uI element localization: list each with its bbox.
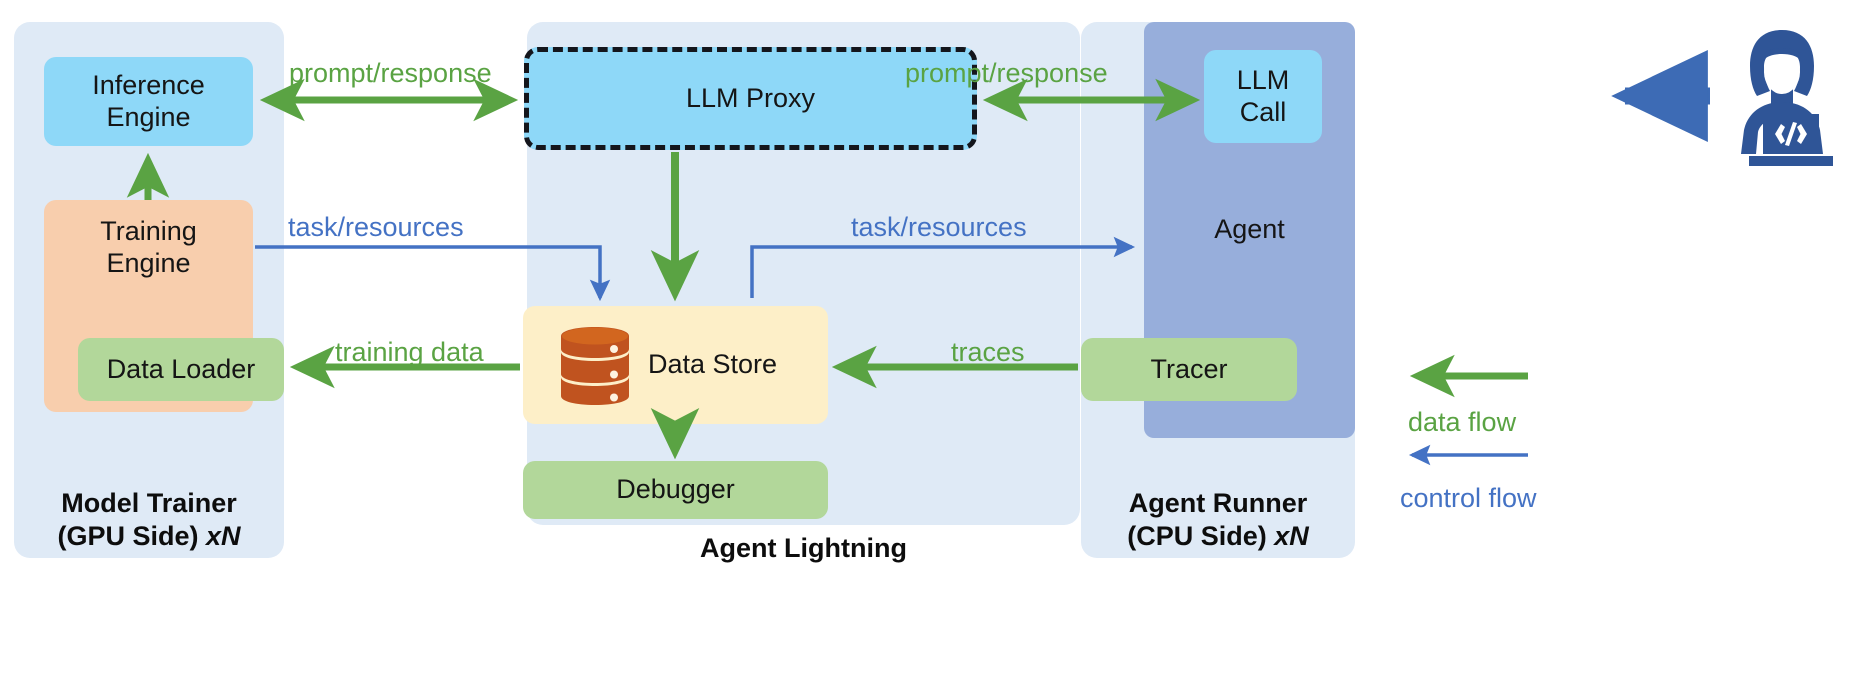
legend-data-flow-text: data flow [1408, 407, 1516, 437]
edge-label-traces: traces [951, 337, 1025, 368]
prompt-response-left-text: prompt/response [289, 58, 492, 88]
edge-label-task-resources-left: task/resources [288, 212, 464, 243]
node-debugger[interactable]: Debugger [523, 461, 828, 519]
diagram-canvas: Inference Engine Training Engine Data Lo… [0, 0, 1852, 684]
caption-model-trainer-suffix: xN [206, 521, 241, 551]
training-engine-label-line1: Training [100, 216, 197, 248]
inference-engine-label-line2: Engine [106, 102, 190, 134]
data-store-label: Data Store [648, 349, 777, 381]
inference-engine-label-line1: Inference [92, 70, 205, 102]
task-resources-right-text: task/resources [851, 212, 1027, 242]
agent-label: Agent [1214, 214, 1285, 246]
edge-label-prompt-response-right: prompt/response [905, 58, 1108, 89]
edge-label-training-data: training data [335, 337, 484, 368]
caption-model-trainer-line1: Model Trainer [61, 488, 237, 518]
node-data-loader[interactable]: Data Loader [78, 338, 284, 401]
training-engine-label-line2: Engine [106, 248, 190, 280]
caption-model-trainer-line2: (GPU Side) [57, 521, 198, 551]
caption-model-trainer: Model Trainer (GPU Side) xN [14, 487, 284, 553]
legend-data-flow-label: data flow [1408, 407, 1516, 438]
prompt-response-right-text: prompt/response [905, 58, 1108, 88]
llm-call-label-line1: LLM [1237, 65, 1290, 97]
caption-agent-runner: Agent Runner (CPU Side) xN [1081, 487, 1355, 553]
developer-person-laptop-icon [1723, 28, 1841, 168]
data-loader-label: Data Loader [107, 354, 256, 386]
caption-agent-runner-suffix: xN [1274, 521, 1309, 551]
tracer-label: Tracer [1150, 354, 1227, 386]
legend-control-flow-text: control flow [1400, 483, 1537, 513]
edge-label-task-resources-right: task/resources [851, 212, 1027, 243]
training-data-text: training data [335, 337, 484, 367]
legend: data flow control flow [1400, 352, 1840, 542]
node-llm-call[interactable]: LLM Call [1204, 50, 1322, 143]
node-tracer[interactable]: Tracer [1081, 338, 1297, 401]
debugger-label: Debugger [616, 474, 735, 506]
task-resources-left-text: task/resources [288, 212, 464, 242]
caption-agent-lightning-line1: Agent Lightning [700, 533, 907, 563]
caption-agent-runner-line2: (CPU Side) [1127, 521, 1267, 551]
caption-agent-runner-line1: Agent Runner [1129, 488, 1308, 518]
caption-agent-lightning: Agent Lightning [527, 532, 1080, 565]
node-data-store[interactable]: Data Store [523, 306, 828, 424]
llm-proxy-label: LLM Proxy [686, 83, 815, 115]
llm-call-label-line2: Call [1240, 97, 1287, 129]
node-inference-engine[interactable]: Inference Engine [44, 57, 253, 146]
traces-text: traces [951, 337, 1025, 367]
database-icon [557, 327, 633, 405]
edge-label-prompt-response-left: prompt/response [289, 58, 492, 89]
legend-control-flow-label: control flow [1400, 483, 1537, 514]
